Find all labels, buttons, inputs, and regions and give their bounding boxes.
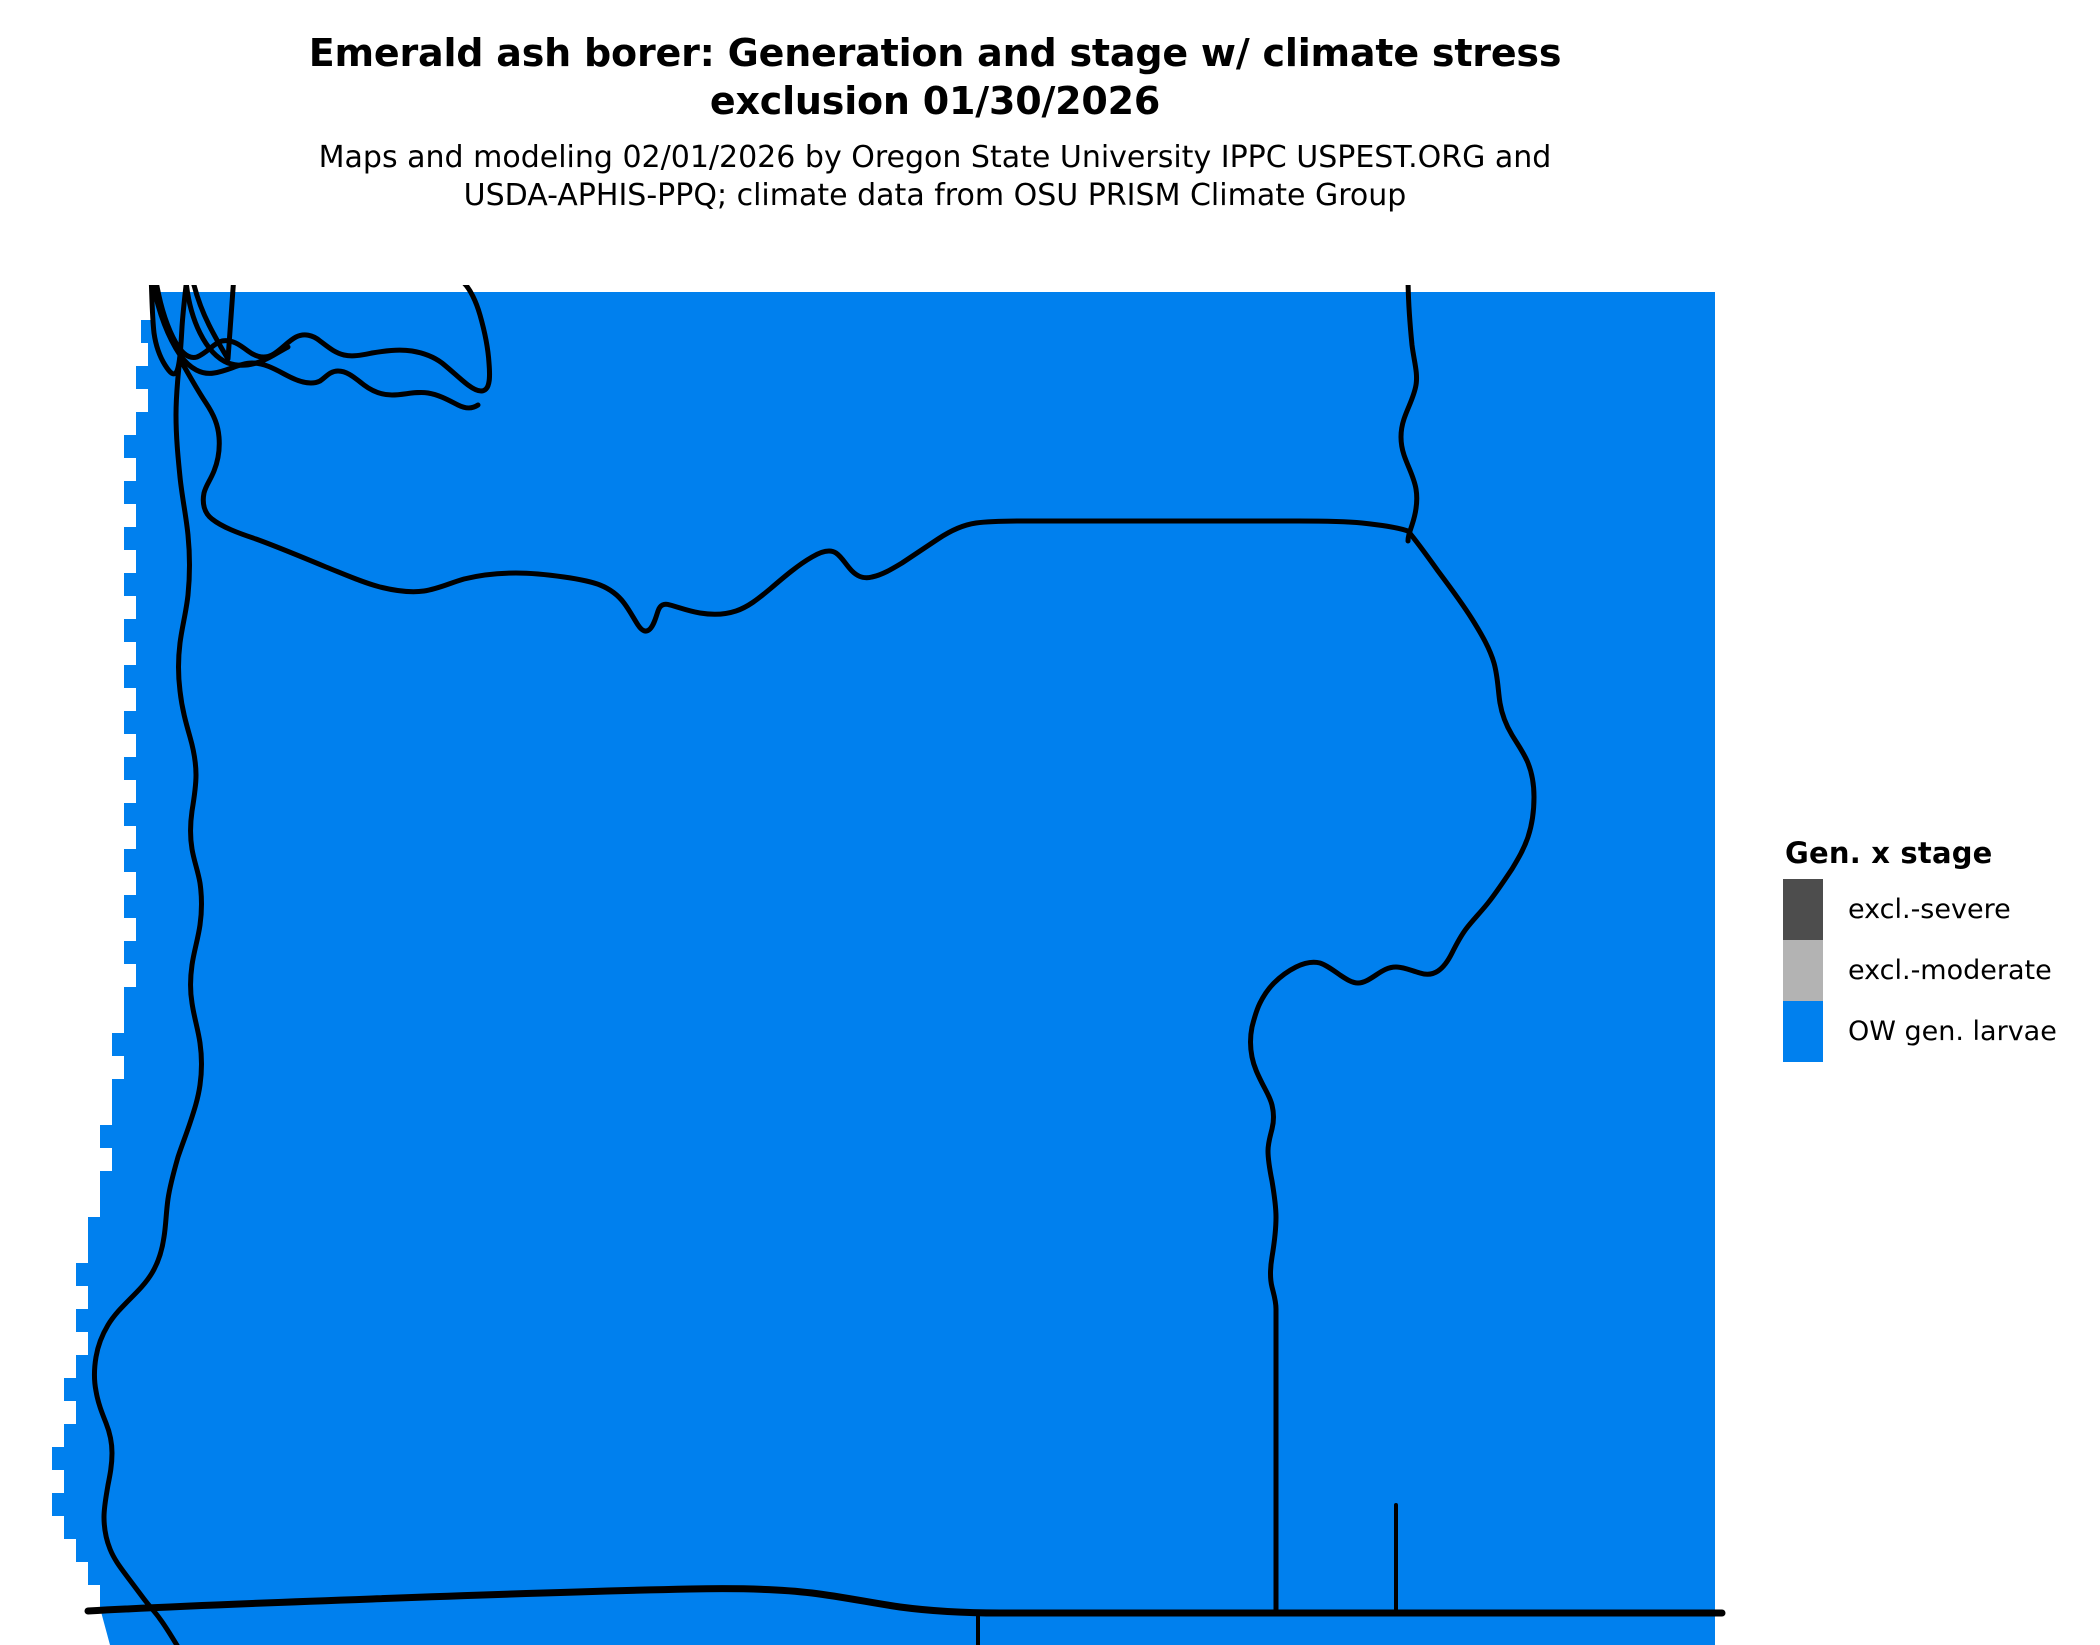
title-block: Emerald ash borer: Generation and stage … — [95, 30, 1775, 215]
oregon-map-svg[interactable] — [0, 285, 1760, 1645]
page-title: Emerald ash borer: Generation and stage … — [95, 30, 1775, 125]
legend-label-excl-severe: excl.-severe — [1848, 894, 2011, 925]
legend-swatch-excl-severe — [1783, 879, 1823, 940]
map-canvas[interactable] — [0, 285, 1760, 1645]
map-legend: Gen. x stage excl.-severe excl.-moderate… — [1783, 836, 2057, 1062]
legend-swatch-excl-moderate — [1783, 940, 1823, 1001]
map-page: Emerald ash borer: Generation and stage … — [0, 0, 2100, 1645]
legend-label-ow-gen-larvae: OW gen. larvae — [1848, 1016, 2057, 1047]
legend-item-ow-gen-larvae[interactable]: OW gen. larvae — [1783, 1001, 2057, 1062]
legend-item-excl-severe[interactable]: excl.-severe — [1783, 879, 2057, 940]
legend-swatch-ow-gen-larvae — [1783, 1001, 1823, 1062]
page-subtitle: Maps and modeling 02/01/2026 by Oregon S… — [95, 139, 1775, 215]
legend-item-excl-moderate[interactable]: excl.-moderate — [1783, 940, 2057, 1001]
legend-title: Gen. x stage — [1785, 836, 2057, 870]
raster-ow-gen-larvae — [52, 292, 1715, 1608]
legend-label-excl-moderate: excl.-moderate — [1848, 955, 2052, 986]
